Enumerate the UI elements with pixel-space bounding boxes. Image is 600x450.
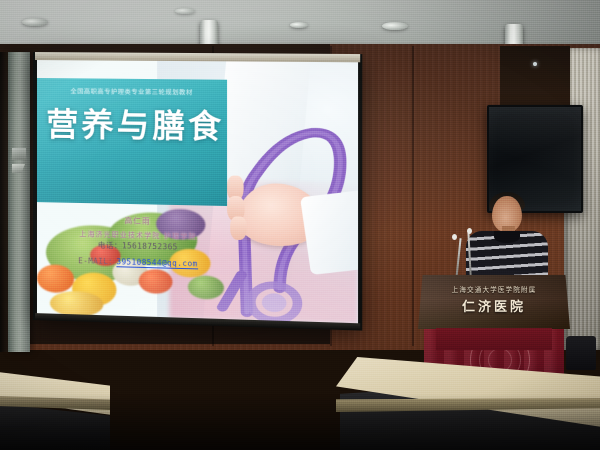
recessed-downlight-icon (22, 18, 48, 26)
projected-slide: 全国高职高专护理类专业第三轮规划教材 营养与膳食 (37, 60, 358, 324)
recessed-downlight-icon (382, 22, 408, 30)
chair (566, 336, 596, 370)
slide-contact-block: 电话：15618752365 E-MAIL：395108544@qq.com (37, 236, 240, 273)
slide-photo-sleeve (300, 189, 358, 275)
recessed-downlight-icon (290, 22, 308, 28)
wall-panel-seam (412, 46, 414, 346)
projection-screen: 全国高职高专护理类专业第三轮规划教材 营养与膳食 (33, 52, 362, 331)
slide-email-value: 395108544@qq.com (116, 257, 197, 269)
recessed-downlight-icon (175, 8, 195, 14)
podium-hospital-name: 仁济医院 (418, 296, 570, 315)
wall-plate-icon (12, 148, 26, 160)
tv-power-led-icon (533, 62, 537, 66)
microphone-head-icon (467, 228, 472, 234)
slide-phone-value: 15618752365 (122, 241, 178, 251)
slide-phone-label: 电话： (98, 241, 122, 251)
podium-skirt (436, 328, 552, 350)
microphone-head-icon (452, 234, 457, 240)
speaker-collar (494, 231, 520, 243)
slide-email-label: E-MAIL： (78, 256, 116, 266)
left-column (8, 52, 30, 352)
slide-title: 营养与膳食 (37, 108, 234, 143)
podium-institution-line: 上海交通大学医学院附属 (418, 284, 570, 294)
tv-wall-mount (500, 46, 570, 108)
foreground-shadow (0, 394, 600, 450)
lecture-hall-photo: 全国高职高专护理类专业第三轮规划教材 营养与膳食 (0, 0, 600, 450)
